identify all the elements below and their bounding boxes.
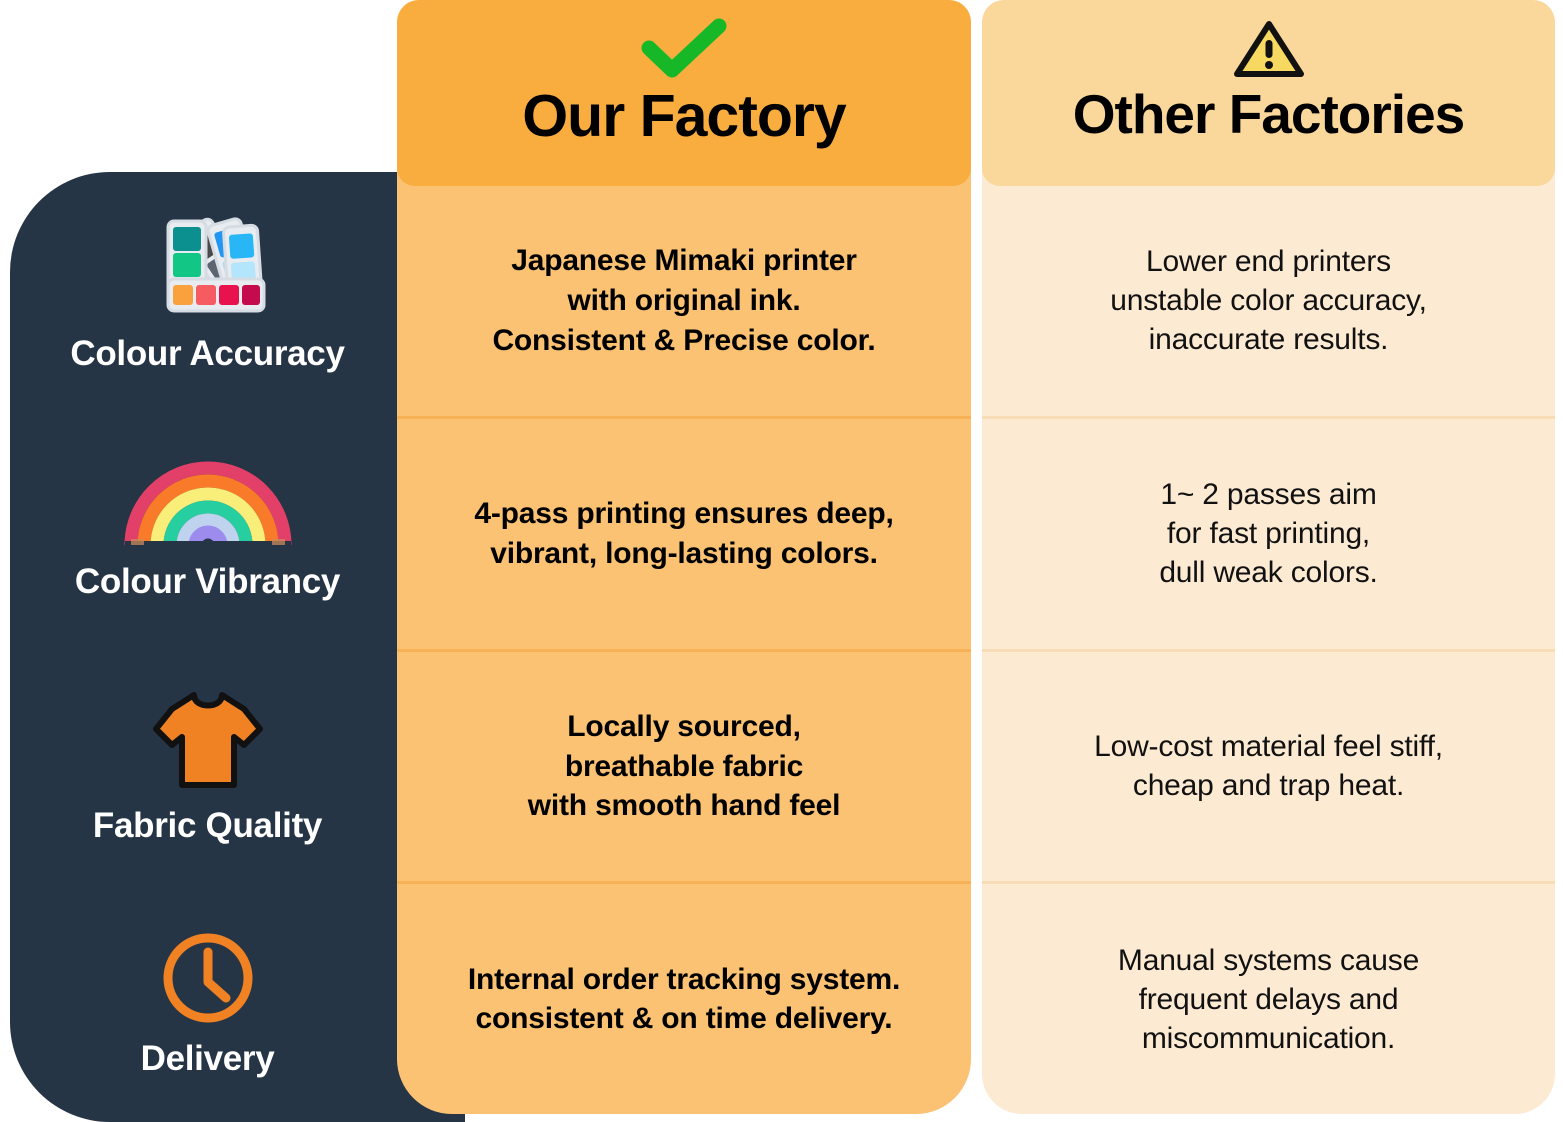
table-cell: 1~ 2 passes aim for fast printing, dull … xyxy=(982,419,1555,652)
warning-triangle-icon xyxy=(1231,18,1307,80)
cell-text: Manual systems cause frequent delays and… xyxy=(1118,941,1419,1058)
cell-text: Low-cost material feel stiff, cheap and … xyxy=(1094,727,1443,805)
column-other-factories: Other Factories Lower end printers unsta… xyxy=(982,0,1555,1114)
our-factory-header: Our Factory xyxy=(397,0,971,186)
our-factory-cells: Japanese Mimaki printer with original in… xyxy=(397,186,971,1114)
cell-text: Japanese Mimaki printer with original in… xyxy=(492,241,875,360)
cell-text: 1~ 2 passes aim for fast printing, dull … xyxy=(1159,475,1377,592)
table-cell: Internal order tracking system. consiste… xyxy=(397,884,971,1114)
criteria-label: Delivery xyxy=(141,1039,275,1079)
cell-text: Lower end printers unstable color accura… xyxy=(1110,242,1426,359)
cell-text: Internal order tracking system. consiste… xyxy=(468,960,900,1039)
criteria-label: Colour Accuracy xyxy=(70,334,344,374)
criteria-row-colour-accuracy: Colour Accuracy xyxy=(10,172,405,410)
table-cell: Low-cost material feel stiff, cheap and … xyxy=(982,652,1555,885)
cell-text: Locally sourced, breathable fabric with … xyxy=(528,707,840,826)
criteria-row-delivery: Delivery xyxy=(10,885,405,1122)
table-cell: 4-pass printing ensures deep, vibrant, l… xyxy=(397,419,971,652)
table-cell: Japanese Mimaki printer with original in… xyxy=(397,186,971,419)
criteria-row-fabric-quality: Fabric Quality xyxy=(10,647,405,885)
rainbow-icon xyxy=(118,455,298,556)
table-cell: Manual systems cause frequent delays and… xyxy=(982,884,1555,1114)
column-our-factory: Our Factory Japanese Mimaki printer with… xyxy=(397,0,971,1114)
cell-text: 4-pass printing ensures deep, vibrant, l… xyxy=(474,494,893,573)
table-cell: Locally sourced, breathable fabric with … xyxy=(397,652,971,885)
color-palette-swatch-icon xyxy=(144,207,272,328)
clock-icon xyxy=(158,928,258,1033)
criteria-row-colour-vibrancy: Colour Vibrancy xyxy=(10,410,405,648)
green-checkmark-icon xyxy=(641,18,727,80)
criteria-label: Fabric Quality xyxy=(93,806,322,846)
tshirt-icon xyxy=(148,685,268,800)
other-factories-cells: Lower end printers unstable color accura… xyxy=(982,186,1555,1114)
our-factory-title: Our Factory xyxy=(522,86,845,148)
other-factories-header: Other Factories xyxy=(982,0,1555,186)
other-factories-title: Other Factories xyxy=(1073,86,1465,144)
infographic-comparison-table: Colour Accuracy xyxy=(0,0,1563,1122)
criteria-label: Colour Vibrancy xyxy=(75,562,340,602)
table-cell: Lower end printers unstable color accura… xyxy=(982,186,1555,419)
